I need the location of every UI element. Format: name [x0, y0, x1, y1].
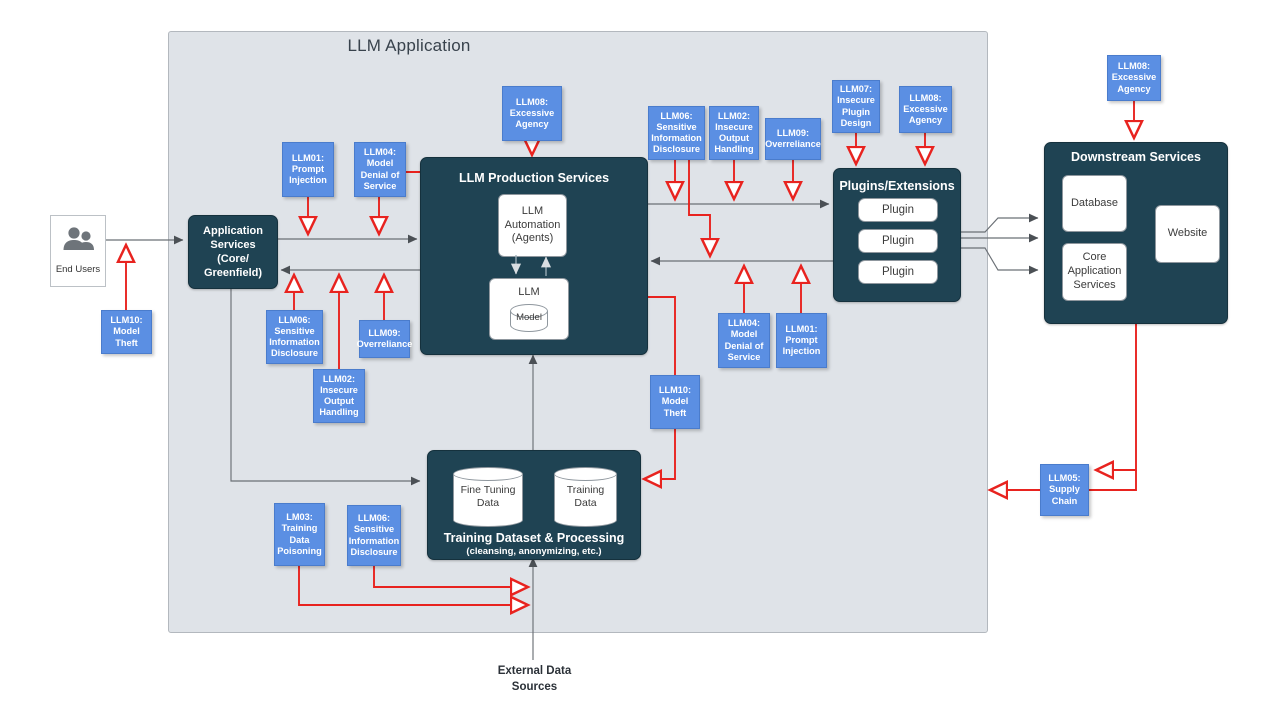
page-title: LLM Application [0, 36, 818, 56]
model-cylinder: Model [510, 304, 548, 332]
users-icon [60, 226, 98, 254]
plugin-item-1[interactable]: Plugin [858, 198, 938, 222]
risk-card-llm09-middle[interactable]: LLM09: Overreliance [765, 118, 821, 160]
risk-card-llm09-left[interactable]: LLM09: Overreliance [359, 320, 410, 358]
risk-card-llm05-supply[interactable]: LLM05: Supply Chain [1040, 464, 1089, 516]
application-services-label: Application Services (Core/ Greenfield) [203, 224, 263, 280]
risk-card-llm10-model[interactable]: LLM10: Model Theft [650, 375, 700, 429]
fine-tuning-cylinder: Fine Tuning Data [453, 467, 523, 527]
risk-card-llm04-top[interactable]: LLM04: Model Denial of Service [354, 142, 406, 197]
downstream-services-box[interactable]: Downstream Services Database Core Applic… [1044, 142, 1228, 324]
llm-production-services-box[interactable]: LLM Production Services LLM Automation (… [420, 157, 648, 355]
downstream-title: Downstream Services [1045, 150, 1227, 164]
risk-card-llm08-plugin[interactable]: LLM08: Excessive Agency [899, 86, 952, 133]
application-services-box[interactable]: Application Services (Core/ Greenfield) [188, 215, 278, 289]
risk-card-llm02-middle[interactable]: LLM02: Insecure Output Handling [709, 106, 759, 160]
risk-card-llm08-downstream[interactable]: LLM08: Excessive Agency [1107, 55, 1161, 101]
end-users-node: End Users [50, 215, 106, 287]
plugins-extensions-box[interactable]: Plugins/Extensions Plugin Plugin Plugin [833, 168, 961, 302]
risk-card-llm02-left[interactable]: LLM02: Insecure Output Handling [313, 369, 365, 423]
core-application-services-box[interactable]: Core Application Services [1062, 243, 1127, 301]
risk-card-llm07-plugin[interactable]: LLM07: Insecure Plugin Design [832, 80, 880, 133]
risk-card-llm04-plugin[interactable]: LLM04: Model Denial of Service [718, 313, 770, 368]
risk-card-llm01-plugin[interactable]: LLM01: Prompt Injection [776, 313, 827, 368]
fine-tuning-label: Fine Tuning Data [453, 467, 523, 527]
training-dataset-box[interactable]: Fine Tuning Data Training Data Training … [427, 450, 641, 560]
training-dataset-title: Training Dataset & Processing [428, 531, 640, 545]
model-label: Model [510, 304, 548, 332]
website-box[interactable]: Website [1155, 205, 1220, 263]
plugin-item-2[interactable]: Plugin [858, 229, 938, 253]
end-users-label: End Users [47, 264, 109, 275]
risk-card-llm06-middle[interactable]: LLM06: Sensitive Information Disclosure [648, 106, 705, 160]
plugins-title: Plugins/Extensions [834, 179, 960, 193]
risk-card-llm06-left[interactable]: LLM06: Sensitive Information Disclosure [266, 310, 323, 364]
training-data-cylinder: Training Data [554, 467, 617, 527]
diagram-canvas: LLM Application [0, 0, 1280, 717]
plugin-item-3[interactable]: Plugin [858, 260, 938, 284]
risk-card-lm03-training[interactable]: LM03: Training Data Poisoning [274, 503, 325, 566]
risk-card-llm01-top[interactable]: LLM01: Prompt Injection [282, 142, 334, 197]
risk-card-llm10-endusers[interactable]: LLM10: Model Theft [101, 310, 152, 354]
database-box[interactable]: Database [1062, 175, 1127, 232]
training-dataset-subtitle: (cleansing, anonymizing, etc.) [428, 546, 640, 557]
risk-card-llm06-training[interactable]: LLM06: Sensitive Information Disclosure [347, 505, 401, 566]
external-data-sources-label: External Data Sources [462, 664, 607, 695]
training-data-label: Training Data [554, 467, 617, 527]
risk-card-llm08-production[interactable]: LLM08: Excessive Agency [502, 86, 562, 141]
